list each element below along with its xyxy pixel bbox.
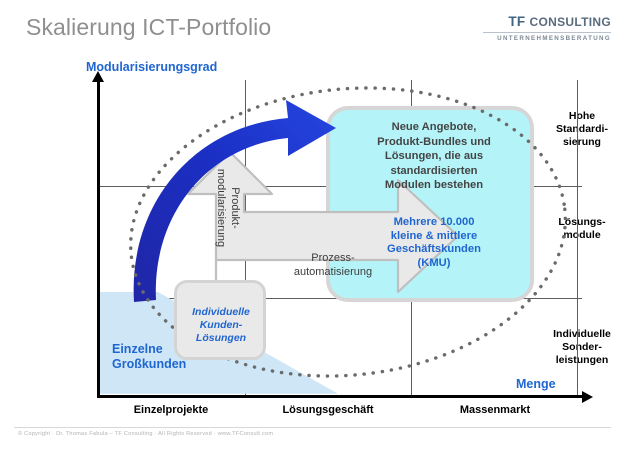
- x-axis-arrowhead-icon: [582, 391, 593, 403]
- x-tick-label-massenmarkt: Massenmarkt: [412, 404, 578, 416]
- target-customer-count-text: Mehrere 10.000kleine & mittlereGeschäfts…: [348, 216, 520, 270]
- target-description-text: Neue Angebote,Produkt-Bundles undLösunge…: [348, 120, 520, 193]
- logo-tf: TF: [508, 14, 525, 29]
- slide-canvas: Skalierung ICT-Portfolio TF CONSULTING U…: [0, 0, 625, 469]
- logo-divider: [483, 32, 611, 33]
- footer-divider: [14, 427, 611, 428]
- page-title: Skalierung ICT-Portfolio: [26, 14, 271, 41]
- x-tick-label-einzelprojekte: Einzelprojekte: [98, 404, 244, 416]
- logo-consulting: CONSULTING: [530, 15, 611, 29]
- product-modularization-label: Produkt-modularisierung: [214, 153, 241, 263]
- y-axis-line: [97, 80, 100, 398]
- logo: TF CONSULTING UNTERNEHMENSBERATUNG: [481, 14, 611, 42]
- footer-copyright: © Copyright · Dr. Thomas Fabula – TF Con…: [18, 431, 273, 437]
- plot-area: EinzelneGroßkunden IndividuelleKu: [98, 84, 582, 398]
- logo-tagline: UNTERNEHMENSBERATUNG: [481, 35, 611, 42]
- individual-solutions-label: IndividuelleKunden-Lösungen: [176, 306, 266, 345]
- y-axis-title: Modularisierungsgrad: [86, 60, 217, 74]
- x-axis-line: [97, 395, 584, 398]
- x-tick-label-loesungsgeschaeft: Lösungsgeschäft: [246, 404, 410, 416]
- y-axis-arrowhead-icon: [92, 71, 104, 82]
- logo-wordmark: TF CONSULTING: [481, 14, 611, 29]
